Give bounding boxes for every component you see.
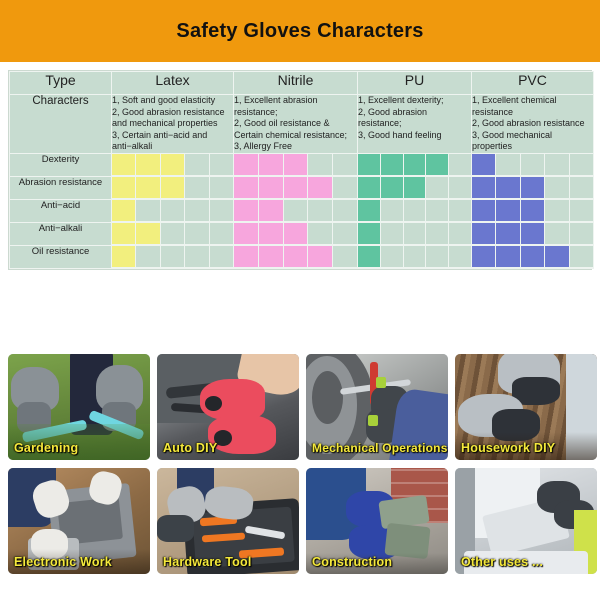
rating-pip [426, 154, 449, 176]
rating-pip [161, 177, 185, 199]
rating-cell-pvc [472, 176, 594, 199]
photo-tile-hardware-tool[interactable]: Hardware Tool [157, 468, 299, 574]
rating-pip [521, 200, 545, 222]
rating-pip [381, 177, 404, 199]
rating-pip [449, 246, 471, 268]
rating-pip [404, 154, 427, 176]
rating-pip [185, 223, 209, 245]
rating-pip [136, 200, 160, 222]
rating-pip [381, 154, 404, 176]
rating-pip [404, 246, 427, 268]
photo-caption: Auto DIY [163, 441, 217, 455]
rating-pip [112, 223, 136, 245]
rating-row: Oil resistance [10, 245, 594, 268]
rating-pip [570, 154, 593, 176]
photo-caption: Mechanical Operations [312, 441, 448, 455]
rating-pip [185, 246, 209, 268]
rating-pip [449, 177, 471, 199]
rating-pip [358, 177, 381, 199]
photo-caption: Other uses ... [461, 555, 543, 569]
rating-pip [545, 223, 569, 245]
rating-pip [185, 154, 209, 176]
rating-cell-nitrile [234, 245, 358, 268]
rating-cell-latex [112, 222, 234, 245]
photo-caption: Housework DIY [461, 441, 555, 455]
column-header-type: Type [10, 72, 112, 95]
rating-cell-pvc [472, 199, 594, 222]
rating-pip [234, 223, 259, 245]
rating-pip [136, 223, 160, 245]
rating-cell-pu [358, 153, 472, 176]
rating-pip [545, 246, 569, 268]
rating-pip [112, 200, 136, 222]
rating-cell-latex [112, 245, 234, 268]
rating-pip [449, 223, 471, 245]
rating-pip [496, 200, 520, 222]
row-label-characters: Characters [10, 95, 112, 154]
rating-pip [333, 223, 357, 245]
rating-cell-pu [358, 176, 472, 199]
rating-pip [161, 223, 185, 245]
rating-cell-nitrile [234, 153, 358, 176]
rating-pip [333, 246, 357, 268]
rating-pip [234, 177, 259, 199]
rating-cell-latex [112, 199, 234, 222]
rating-pip [426, 223, 449, 245]
rating-pip [358, 223, 381, 245]
rating-pip [136, 154, 160, 176]
rating-pip [333, 154, 357, 176]
rating-pip [521, 177, 545, 199]
rating-row-label: Anti−acid [10, 199, 112, 222]
rating-pip [570, 246, 593, 268]
photo-tile-auto-diy[interactable]: Auto DIY [157, 354, 299, 460]
rating-pip [472, 223, 496, 245]
rating-pip [234, 154, 259, 176]
characters-nitrile: 1, Excellent abrasion resistance; 2, Goo… [234, 95, 358, 154]
rating-pip [284, 154, 309, 176]
rating-row: Anti−acid [10, 199, 594, 222]
rating-pip [161, 200, 185, 222]
rating-rows: DexterityAbrasion resistanceAnti−acidAnt… [10, 153, 594, 268]
rating-cell-nitrile [234, 222, 358, 245]
rating-pip [136, 177, 160, 199]
photo-tile-other-uses[interactable]: Other uses ... [455, 468, 597, 574]
rating-pip [472, 154, 496, 176]
rating-pip [426, 246, 449, 268]
rating-pip [284, 200, 309, 222]
rating-row-label: Abrasion resistance [10, 176, 112, 199]
rating-pip [210, 177, 233, 199]
rating-cell-pu [358, 222, 472, 245]
rating-pip [496, 177, 520, 199]
column-header-pu: PU [358, 72, 472, 95]
rating-pip [521, 223, 545, 245]
rating-pip [259, 223, 284, 245]
rating-pip [358, 200, 381, 222]
rating-row-label: Anti−alkali [10, 222, 112, 245]
page-root: Safety Gloves Characters Type Latex Nitr… [0, 0, 600, 600]
rating-cell-nitrile [234, 199, 358, 222]
rating-pip [449, 200, 471, 222]
application-photo-grid: Gardening Auto DIY [8, 354, 592, 582]
rating-pip [136, 246, 160, 268]
photo-tile-gardening[interactable]: Gardening [8, 354, 150, 460]
rating-pip [333, 200, 357, 222]
rating-pip [210, 246, 233, 268]
rating-pip [426, 200, 449, 222]
rating-pip [308, 154, 333, 176]
rating-pip [496, 246, 520, 268]
rating-pip [472, 246, 496, 268]
rating-pip [358, 154, 381, 176]
rating-pip [570, 200, 593, 222]
rating-pip [284, 177, 309, 199]
rating-pip [308, 223, 333, 245]
rating-pip [404, 177, 427, 199]
rating-pip [545, 177, 569, 199]
rating-pip [210, 223, 233, 245]
rating-row: Anti−alkali [10, 222, 594, 245]
rating-cell-pu [358, 245, 472, 268]
column-header-nitrile: Nitrile [234, 72, 358, 95]
photo-tile-mechanical-operations[interactable]: Mechanical Operations [306, 354, 448, 460]
photo-row-2: Electronic Work Hardware Tool [8, 468, 592, 574]
characters-pvc: 1, Excellent chemical resistance 2, Good… [472, 95, 594, 154]
rating-pip [570, 223, 593, 245]
rating-pip [185, 177, 209, 199]
rating-pip [426, 177, 449, 199]
rating-cell-pvc [472, 222, 594, 245]
rating-cell-latex [112, 176, 234, 199]
rating-pip [210, 154, 233, 176]
rating-pip [284, 246, 309, 268]
rating-pip [161, 154, 185, 176]
rating-pip [259, 154, 284, 176]
rating-pip [570, 177, 593, 199]
page-title: Safety Gloves Characters [176, 20, 423, 43]
photo-caption: Construction [312, 555, 392, 569]
characters-pu: 1, Excellent dexterity; 2, Good abrasion… [358, 95, 472, 154]
rating-row: Abrasion resistance [10, 176, 594, 199]
rating-pip [521, 246, 545, 268]
rating-pip [259, 177, 284, 199]
rating-pip [521, 154, 545, 176]
photo-caption: Electronic Work [14, 555, 112, 569]
rating-cell-pvc [472, 153, 594, 176]
rating-row-label: Dexterity [10, 153, 112, 176]
photo-tile-housework-diy[interactable]: Housework DIY [455, 354, 597, 460]
rating-pip [161, 246, 185, 268]
rating-pip [545, 200, 569, 222]
characters-row: Characters 1, Soft and good elasticity 2… [10, 95, 594, 154]
photo-caption: Gardening [14, 441, 78, 455]
rating-cell-pu [358, 199, 472, 222]
rating-row: Dexterity [10, 153, 594, 176]
rating-pip [234, 246, 259, 268]
photo-caption: Hardware Tool [163, 555, 252, 569]
rating-pip [112, 246, 136, 268]
rating-pip [259, 246, 284, 268]
rating-pip [112, 177, 136, 199]
characters-latex: 1, Soft and good elasticity 2, Good abra… [112, 95, 234, 154]
rating-cell-nitrile [234, 176, 358, 199]
rating-pip [472, 177, 496, 199]
rating-pip [284, 223, 309, 245]
rating-pip [381, 246, 404, 268]
rating-pip [308, 246, 333, 268]
comparison-table: Type Latex Nitrile PU PVC Characters 1, … [8, 70, 592, 270]
rating-cell-pvc [472, 245, 594, 268]
rating-pip [404, 223, 427, 245]
rating-pip [404, 200, 427, 222]
rating-pip [381, 200, 404, 222]
rating-pip [496, 154, 520, 176]
rating-pip [210, 200, 233, 222]
photo-tile-electronic-work[interactable]: Electronic Work [8, 468, 150, 574]
column-header-latex: Latex [112, 72, 234, 95]
rating-pip [112, 154, 136, 176]
column-header-pvc: PVC [472, 72, 594, 95]
rating-row-label: Oil resistance [10, 245, 112, 268]
rating-pip [308, 200, 333, 222]
rating-pip [449, 154, 471, 176]
rating-cell-latex [112, 153, 234, 176]
rating-pip [308, 177, 333, 199]
photo-row-1: Gardening Auto DIY [8, 354, 592, 460]
header-banner: Safety Gloves Characters [0, 0, 600, 62]
rating-pip [545, 154, 569, 176]
rating-pip [333, 177, 357, 199]
table-header-row: Type Latex Nitrile PU PVC [10, 72, 594, 95]
rating-pip [472, 200, 496, 222]
rating-pip [358, 246, 381, 268]
rating-pip [234, 200, 259, 222]
photo-tile-construction[interactable]: Construction [306, 468, 448, 574]
rating-pip [381, 223, 404, 245]
rating-pip [259, 200, 284, 222]
rating-pip [496, 223, 520, 245]
rating-pip [185, 200, 209, 222]
